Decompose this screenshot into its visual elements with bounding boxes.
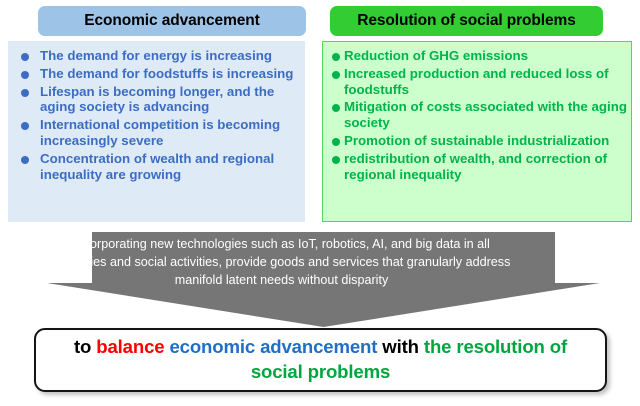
social-problems-header: Resolution of social problems [330,6,603,36]
list-item: Reduction of GHG emissions [329,48,627,64]
list-item: The demand for foodstuffs is increasing [16,66,299,82]
process-arrow-text: Incorporating new technologies such as I… [47,236,516,290]
list-item: The demand for energy is increasing [16,48,299,64]
economic-advancement-header-label: Economic advancement [84,12,259,30]
social-problems-header-label: Resolution of social problems [357,12,575,30]
social-problems-list: Reduction of GHG emissions Increased pro… [329,48,627,183]
economic-advancement-list: The demand for energy is increasing The … [16,48,299,183]
list-item: redistribution of wealth, and correction… [329,151,627,183]
conclusion-segment-economic-advancement: economic advancement [169,336,382,357]
conclusion-box: to balance economic advancement with the… [34,328,607,392]
list-item: Increased production and reduced loss of… [329,66,627,98]
list-item: International competition is becoming in… [16,117,299,149]
conclusion-text: to balance economic advancement with the… [48,335,593,384]
list-item: Lifespan is becoming longer, and the agi… [16,84,299,116]
social-problems-panel: Reduction of GHG emissions Increased pro… [322,41,632,222]
conclusion-segment-to: to [74,336,96,357]
conclusion-segment-with: with [382,336,424,357]
list-item: Concentration of wealth and regional ine… [16,151,299,183]
list-item: Mitigation of costs associated with the … [329,99,627,131]
economic-advancement-panel: The demand for energy is increasing The … [8,41,305,222]
list-item: Promotion of sustainable industrializati… [329,133,627,149]
economic-advancement-header: Economic advancement [38,6,306,36]
conclusion-segment-balance: balance [96,336,169,357]
